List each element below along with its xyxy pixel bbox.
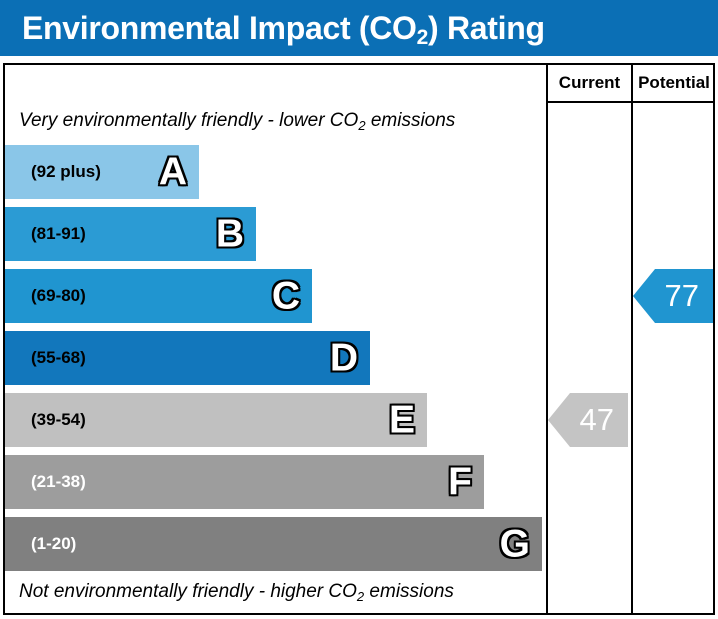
band-letter-a: A xyxy=(159,153,187,192)
band-bar-b: (81-91)B xyxy=(5,207,256,261)
caption-top-prefix: Very environmentally friendly - lower CO xyxy=(19,110,358,131)
page-title-suffix: ) Rating xyxy=(428,10,545,46)
band-letter-f: F xyxy=(448,463,472,502)
caption-bottom: Not environmentally friendly - higher CO… xyxy=(19,581,454,603)
band-row-f: (21-38)F xyxy=(5,451,542,513)
caption-bottom-subscript: 2 xyxy=(357,589,364,604)
page-title-subscript: 2 xyxy=(417,26,428,49)
band-bar-a: (92 plus)A xyxy=(5,145,199,199)
caption-top: Very environmentally friendly - lower CO… xyxy=(19,110,455,132)
band-letter-c: C xyxy=(272,277,300,316)
column-header-current: Current xyxy=(548,65,631,101)
band-row-c: (69-80)C xyxy=(5,265,542,327)
column-divider-potential xyxy=(631,65,633,613)
band-range-e: (39-54) xyxy=(31,410,86,430)
band-bar-g: (1-20)G xyxy=(5,517,542,571)
current-rating-value: 47 xyxy=(580,402,614,438)
rating-table: Current Potential Very environmentally f… xyxy=(3,63,715,615)
caption-top-subscript: 2 xyxy=(358,118,365,133)
band-bar-d: (55-68)D xyxy=(5,331,370,385)
column-header-potential: Potential xyxy=(633,65,715,101)
potential-rating-value: 77 xyxy=(665,278,699,314)
band-range-a: (92 plus) xyxy=(31,162,101,182)
page-title-prefix: Environmental Impact (CO xyxy=(22,10,417,46)
band-row-e: (39-54)E xyxy=(5,389,542,451)
column-header-underline xyxy=(546,101,713,103)
caption-top-suffix: emissions xyxy=(366,110,456,131)
band-range-b: (81-91) xyxy=(31,224,86,244)
band-range-g: (1-20) xyxy=(31,534,76,554)
page-title: Environmental Impact (CO2) Rating xyxy=(22,12,545,44)
band-letter-e: E xyxy=(389,401,415,440)
band-letter-g: G xyxy=(500,525,530,564)
band-row-a: (92 plus)A xyxy=(5,141,542,203)
band-row-g: (1-20)G xyxy=(5,513,542,575)
column-divider-current xyxy=(546,65,548,613)
potential-rating-marker: 77 xyxy=(633,269,713,323)
caption-bottom-prefix: Not environmentally friendly - higher CO xyxy=(19,581,357,602)
rating-bands: (92 plus)A(81-91)B(69-80)C(55-68)D(39-54… xyxy=(5,141,542,575)
band-bar-f: (21-38)F xyxy=(5,455,484,509)
epc-environmental-impact-chart: Environmental Impact (CO2) Rating Curren… xyxy=(0,0,718,619)
band-range-f: (21-38) xyxy=(31,472,86,492)
band-letter-b: B xyxy=(216,215,244,254)
chart-header-banner: Environmental Impact (CO2) Rating xyxy=(0,0,718,56)
current-rating-marker: 47 xyxy=(548,393,628,447)
band-range-d: (55-68) xyxy=(31,348,86,368)
band-letter-d: D xyxy=(330,339,358,378)
band-bar-e: (39-54)E xyxy=(5,393,427,447)
band-row-b: (81-91)B xyxy=(5,203,542,265)
band-range-c: (69-80) xyxy=(31,286,86,306)
band-row-d: (55-68)D xyxy=(5,327,542,389)
caption-bottom-suffix: emissions xyxy=(364,581,454,602)
band-bar-c: (69-80)C xyxy=(5,269,312,323)
